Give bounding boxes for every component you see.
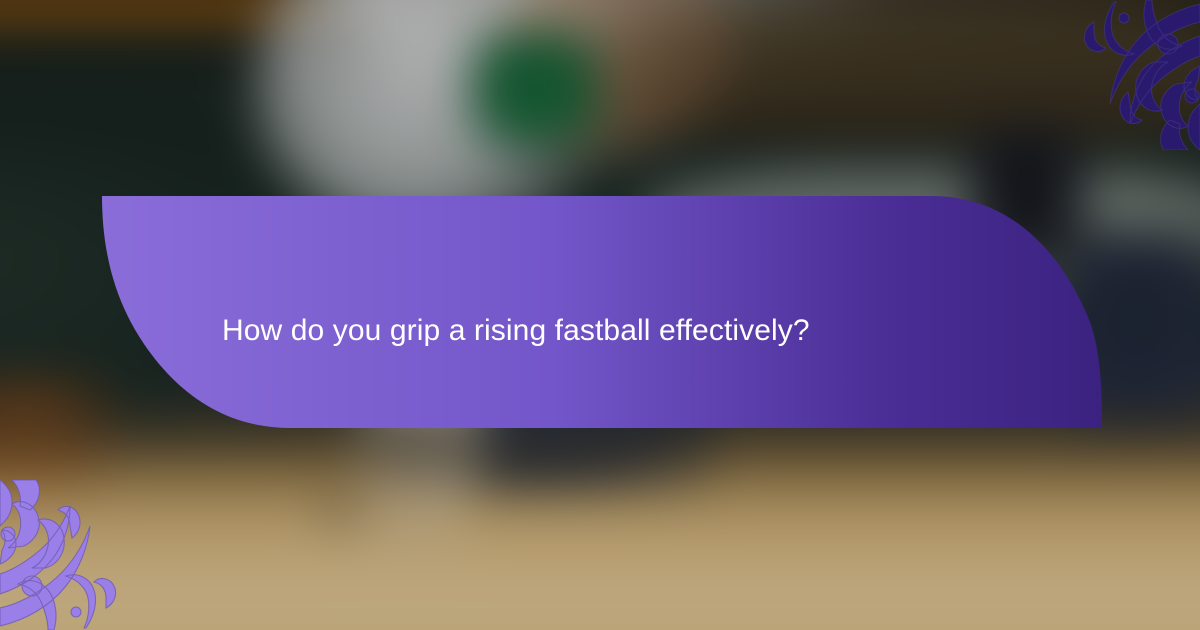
headline-text: How do you grip a rising fastball effect… [222, 312, 810, 350]
social-share-card: How do you grip a rising fastball effect… [0, 0, 1200, 630]
